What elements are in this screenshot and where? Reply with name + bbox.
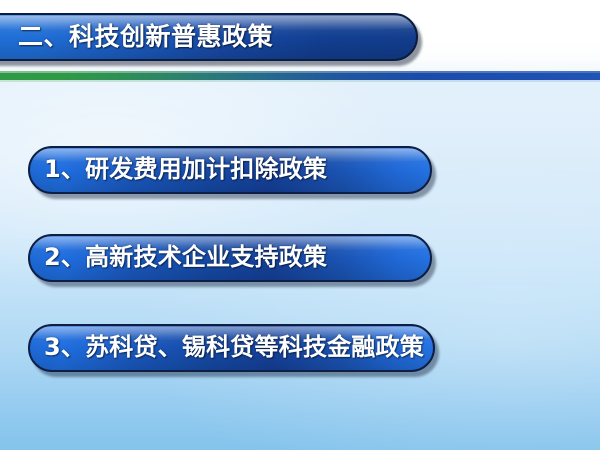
list-item-label: 3、苏科贷、锡科贷等科技金融政策	[44, 324, 424, 372]
presentation-slide: 二、科技创新普惠政策 1、研发费用加计扣除政策 2、高新技术企业支持政策 3、苏…	[0, 0, 600, 450]
list-item-label: 2、高新技术企业支持政策	[44, 234, 327, 282]
policy-list: 1、研发费用加计扣除政策 2、高新技术企业支持政策 3、苏科贷、锡科贷等科技金融…	[0, 0, 600, 450]
list-item[interactable]: 2、高新技术企业支持政策	[28, 234, 432, 282]
page-title: 二、科技创新普惠政策	[18, 13, 273, 61]
list-item[interactable]: 3、苏科贷、锡科贷等科技金融政策	[28, 324, 435, 372]
list-item[interactable]: 1、研发费用加计扣除政策	[28, 146, 432, 194]
list-item-label: 1、研发费用加计扣除政策	[44, 146, 327, 194]
